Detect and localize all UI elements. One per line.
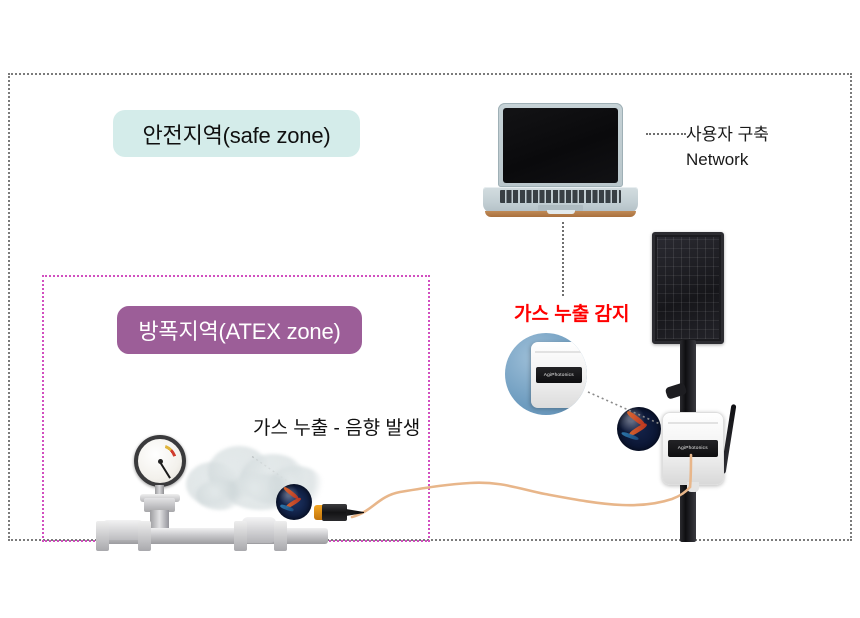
laptop-computer <box>483 103 638 221</box>
pressure-gauge <box>134 435 186 487</box>
fiber-cross-section-icon-pole <box>617 407 661 451</box>
laptop-lid <box>498 103 623 187</box>
safe-zone-badge: 안전지역(safe zone) <box>113 110 360 157</box>
sensor-enclosure-closeup-inset: AgiPhotonics <box>505 333 587 415</box>
gas-leak-detect-label: 가스 누출 감지 <box>514 299 629 326</box>
probe-body <box>322 504 347 521</box>
diagram-canvas: 안전지역(safe zone) 방폭지역(ATEX zone) 사용자 구축 N… <box>0 0 860 618</box>
enclosure-logo-text: AgiPhotonics <box>544 372 574 378</box>
enclosure-closeup-body: AgiPhotonics <box>531 342 587 408</box>
enclosure-logo-plate: AgiPhotonics <box>536 367 582 383</box>
enclosure-logo-text: AgiPhotonics <box>678 446 708 452</box>
pipe-flange <box>138 521 151 551</box>
solar-pole-assembly: AgiPhotonics <box>630 232 760 542</box>
laptop-keyboard <box>500 190 621 203</box>
gauge-hub <box>158 459 163 464</box>
network-label-line1: 사용자 구축 <box>686 122 769 147</box>
solar-cells <box>657 237 719 339</box>
network-label-line2: Network <box>686 147 769 172</box>
pipe-flange <box>274 521 287 551</box>
atex-zone-badge: 방폭지역(ATEX zone) <box>117 306 362 354</box>
pipe-flange <box>96 521 109 551</box>
acoustic-sensor-probe <box>314 504 364 521</box>
enclosure-seam <box>535 351 582 353</box>
fiber-cross-section-icon-probe <box>276 484 312 520</box>
laptop-to-pole-connector <box>562 222 564 296</box>
network-label: 사용자 구축 Network <box>686 122 769 172</box>
enclosure-seam <box>668 422 718 424</box>
pipe-end-block <box>104 520 142 540</box>
network-leader-line <box>646 133 686 135</box>
laptop-screen <box>503 108 618 183</box>
pipe-flange <box>234 521 247 551</box>
sensor-enclosure-pole: AgiPhotonics <box>662 412 724 485</box>
enclosure-cable-gland <box>687 482 699 492</box>
pipe-coupling <box>242 517 276 543</box>
laptop-notch <box>547 210 575 214</box>
solar-panel <box>652 232 724 344</box>
probe-tip <box>346 509 364 516</box>
enclosure-logo-plate: AgiPhotonics <box>668 440 717 457</box>
